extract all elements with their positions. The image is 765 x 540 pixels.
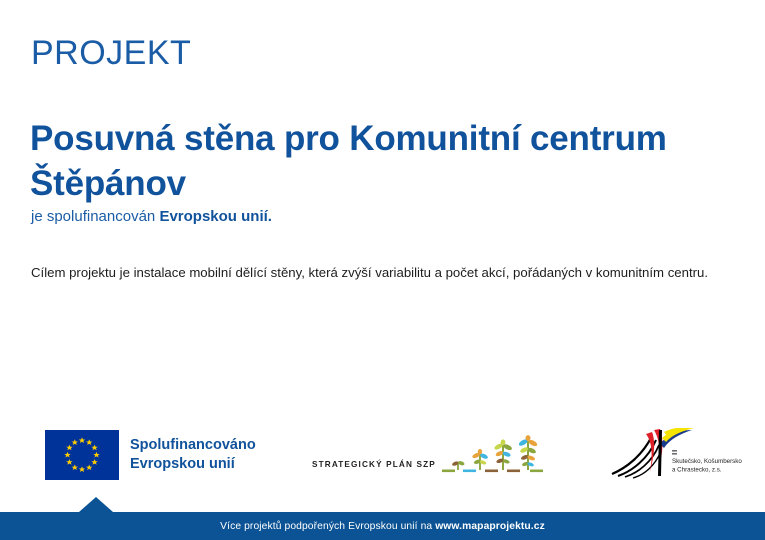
project-description: Cílem projektu je instalace mobilní dělí… (31, 263, 737, 283)
footer-notch-triangle (79, 497, 113, 512)
mas-logo-line1: Skutečsko, Košumbersko (672, 458, 742, 465)
cofinance-prefix: je spolufinancován (31, 208, 159, 225)
mas-bird-icon: Skutečsko, Košumbersko a Chrastecko, z.s… (606, 428, 746, 484)
footer-text: Více projektů podpořených Evropskou unií… (220, 521, 545, 532)
mas-logo-line2: a Chrastecko, z.s. (672, 467, 722, 474)
eu-logo-line2: Evropskou unií (130, 455, 256, 474)
footer-bar: Více projektů podpořených Evropskou unií… (0, 512, 765, 540)
project-poster: PROJEKT Posuvná stěna pro Komunitní cent… (0, 0, 765, 540)
page-title: Posuvná stěna pro Komunitní centrum Štěp… (30, 117, 670, 207)
eu-logo-wordmark: Spolufinancováno Evropskou unií (130, 436, 256, 473)
cofinance-statement: je spolufinancován Evropskou unií. (31, 207, 272, 227)
sprouts-growth-icon (440, 432, 555, 480)
eu-flag-icon (45, 430, 119, 480)
footer-url[interactable]: www.mapaprojektu.cz (435, 521, 545, 532)
eu-cofinance-logo: Spolufinancováno Evropskou unií (45, 430, 256, 480)
cofinance-source: Evropskou unií. (159, 208, 272, 225)
mas-local-action-group-logo: Skutečsko, Košumbersko a Chrastecko, z.s… (606, 428, 746, 484)
szp-logo-label: STRATEGICKÝ PLÁN SZP (312, 460, 436, 480)
footer-text-prefix: Více projektů podpořených Evropskou unií… (220, 521, 435, 532)
logo-strip: Spolufinancováno Evropskou unií STRATEGI… (0, 420, 765, 492)
eu-logo-line1: Spolufinancováno (130, 436, 256, 455)
szp-strategic-plan-logo: STRATEGICKÝ PLÁN SZP (312, 432, 555, 480)
page-kicker: PROJEKT (31, 36, 191, 72)
